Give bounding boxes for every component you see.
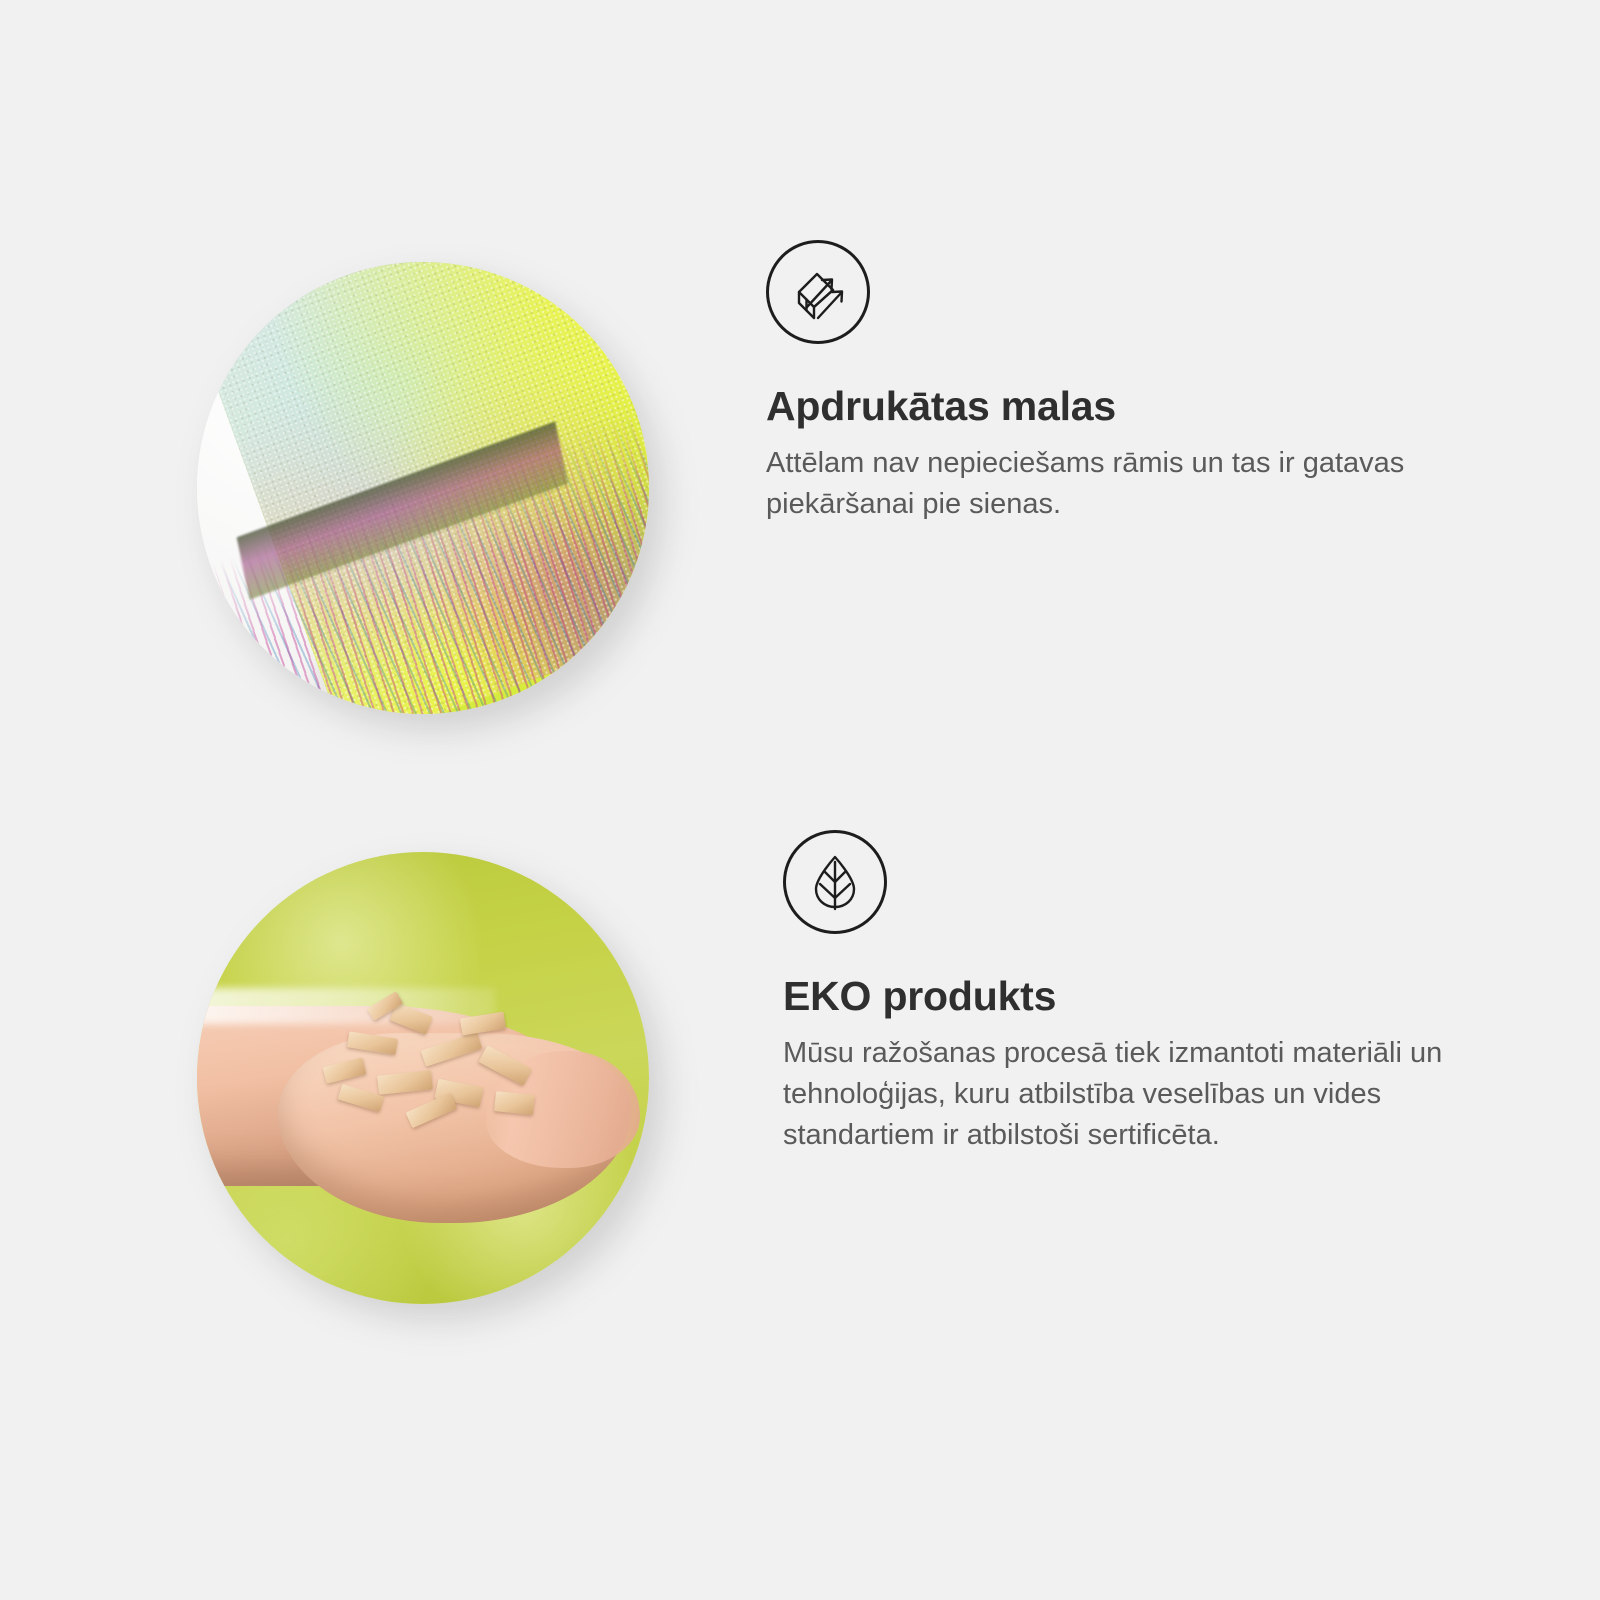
feature-text-column-1: Apdrukātas malas Attēlam nav nepieciešam… bbox=[766, 240, 1526, 525]
feature-description: Attēlam nav nepieciešams rāmis un tas ir… bbox=[766, 443, 1476, 525]
canvas-scene bbox=[197, 262, 649, 714]
wood-chips-in-hands-photo bbox=[197, 852, 649, 1304]
leaf-icon bbox=[783, 830, 887, 934]
feature-panel: Apdrukātas malas Attēlam nav nepieciešam… bbox=[0, 0, 1600, 1600]
feature-description: Mūsu ražošanas procesā tiek izmantoti ma… bbox=[783, 1033, 1493, 1157]
feature-text-column-2: EKO produkts Mūsu ražošanas procesā tiek… bbox=[783, 830, 1543, 1157]
feature-block-printed-edges: Apdrukātas malas Attēlam nav nepieciešam… bbox=[0, 240, 1600, 800]
canvas-corner-photo bbox=[197, 262, 649, 714]
eco-scene bbox=[197, 852, 649, 1304]
wood-chips-photo-wrapper bbox=[197, 852, 649, 1304]
printed-edges-icon bbox=[766, 240, 870, 344]
feature-title: EKO produkts bbox=[783, 974, 1543, 1019]
feature-block-eco-product: EKO produkts Mūsu ražošanas procesā tiek… bbox=[0, 830, 1600, 1390]
canvas-corner-photo-wrapper bbox=[197, 262, 649, 714]
feature-title: Apdrukātas malas bbox=[766, 384, 1526, 429]
wood-chips-pile bbox=[319, 992, 563, 1137]
